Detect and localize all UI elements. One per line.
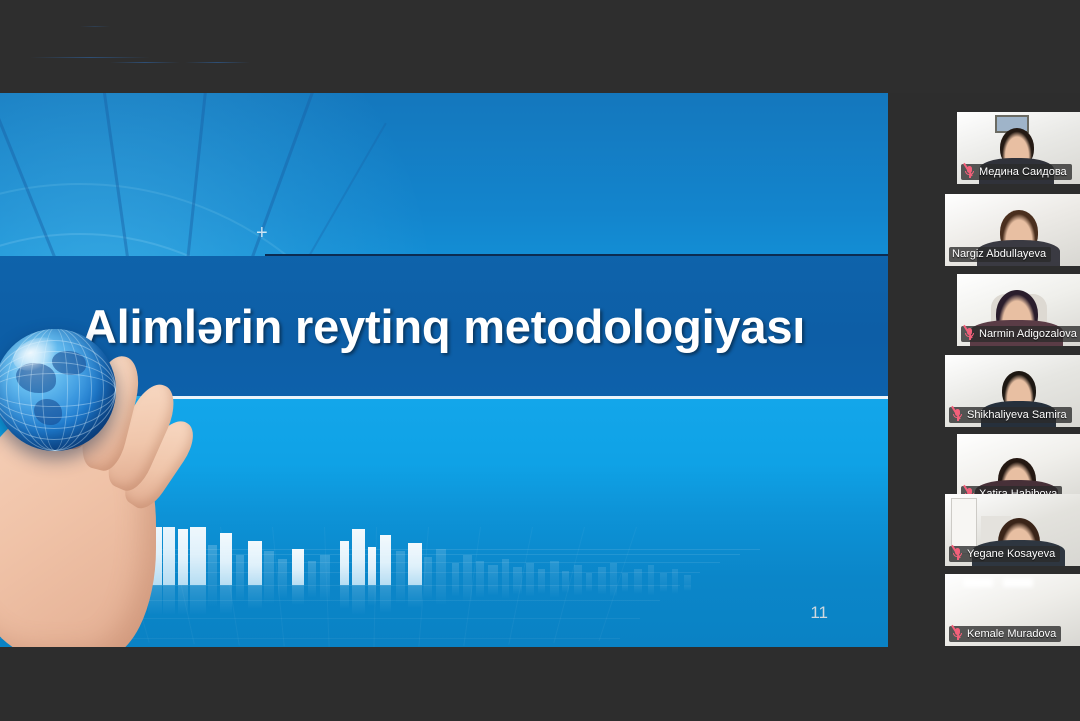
building-reflection xyxy=(634,585,642,594)
building-reflection xyxy=(598,585,606,595)
building-reflection xyxy=(264,585,274,604)
building-reflection xyxy=(526,585,534,597)
building-reflection xyxy=(610,585,617,597)
shared-slide[interactable]: ++++++ Alimlərin reytinq metodologiyası … xyxy=(0,93,888,647)
building xyxy=(320,555,330,585)
participant-tile[interactable]: Shikhaliyeva Samira xyxy=(945,355,1080,427)
building-reflection xyxy=(236,585,244,602)
top-dark-strip xyxy=(0,0,1080,93)
building-reflection xyxy=(308,585,316,598)
mic-muted-icon xyxy=(964,327,975,340)
building xyxy=(308,561,316,585)
building xyxy=(648,565,654,585)
building-reflection xyxy=(648,585,654,596)
ceiling-light xyxy=(1003,578,1033,587)
building xyxy=(684,575,691,585)
building xyxy=(340,541,349,585)
building xyxy=(236,555,244,585)
plus-marker: + xyxy=(256,223,268,243)
participant-name: Yegane Kosayeva xyxy=(967,548,1055,560)
artifact-line xyxy=(185,62,250,63)
globe-longitude xyxy=(42,329,68,451)
participant-nametag: Медина Саидова xyxy=(961,164,1072,180)
building-reflection xyxy=(672,585,678,594)
building-reflection xyxy=(278,585,287,599)
building-reflection xyxy=(476,585,484,598)
building xyxy=(574,565,582,585)
building xyxy=(396,551,405,585)
building-reflection xyxy=(452,585,459,597)
building xyxy=(550,561,559,585)
building-reflection xyxy=(220,585,232,614)
participant-tile[interactable]: Kemale Muradova xyxy=(945,574,1080,646)
artifact-line xyxy=(110,62,180,63)
building-reflection xyxy=(340,585,349,609)
participant-tile[interactable]: Yegane Kosayeva xyxy=(945,494,1080,566)
building-reflection xyxy=(352,585,365,615)
building-reflection xyxy=(574,585,582,596)
building xyxy=(248,541,262,585)
participant-name: Kemale Muradova xyxy=(967,628,1056,640)
mic-muted-icon xyxy=(952,627,963,640)
building xyxy=(598,567,606,585)
participant-name: Медина Саидова xyxy=(979,166,1067,178)
title-bottom-rule xyxy=(145,396,888,399)
participant-nametag: Shikhaliyeva Samira xyxy=(949,407,1072,423)
building-reflection xyxy=(684,585,691,591)
mic-muted-icon xyxy=(952,408,963,421)
building-reflection xyxy=(538,585,545,594)
hand-holding-globe-graphic xyxy=(0,329,194,647)
participant-strip[interactable]: Медина СаидоваNargiz AbdullayevaNarmin A… xyxy=(940,93,1080,673)
artifact-line xyxy=(30,57,150,58)
building xyxy=(586,573,592,585)
building-reflection xyxy=(368,585,376,606)
building xyxy=(436,549,446,585)
building-reflection xyxy=(208,585,217,607)
building xyxy=(368,547,376,585)
building-reflection xyxy=(622,585,628,592)
building xyxy=(264,551,274,585)
building-reflection xyxy=(513,585,522,595)
building xyxy=(352,529,365,585)
building-reflection xyxy=(463,585,472,602)
participant-nametag: Kemale Muradova xyxy=(949,626,1061,642)
building xyxy=(526,563,534,585)
participant-nametag: Narmin Adigozalova xyxy=(961,326,1080,342)
building-reflection xyxy=(396,585,405,604)
participant-name: Nargiz Abdullayeva xyxy=(952,248,1046,260)
building xyxy=(634,569,642,585)
building-reflection xyxy=(380,585,391,613)
building-reflection xyxy=(550,585,559,598)
mic-muted-icon xyxy=(964,165,975,178)
building xyxy=(208,545,217,585)
building xyxy=(562,571,569,585)
building xyxy=(502,559,509,585)
building xyxy=(476,561,484,585)
building-reflection xyxy=(408,585,422,608)
building-reflection xyxy=(586,585,592,592)
building xyxy=(380,535,391,585)
mic-muted-icon xyxy=(952,547,963,560)
artifact-line xyxy=(80,26,110,27)
building xyxy=(408,543,422,585)
building xyxy=(424,557,432,585)
ceiling-light xyxy=(963,578,993,587)
building xyxy=(452,563,459,585)
participant-nametag: Nargiz Abdullayeva xyxy=(949,247,1051,262)
building xyxy=(538,569,545,585)
participant-nametag: Yegane Kosayeva xyxy=(949,546,1060,562)
conference-window: ++++++ Alimlərin reytinq metodologiyası … xyxy=(0,0,1080,721)
building xyxy=(513,567,522,585)
building xyxy=(463,555,472,585)
building xyxy=(220,533,232,585)
building-reflection xyxy=(488,585,498,596)
building xyxy=(660,573,667,585)
building-reflection xyxy=(424,585,432,600)
building xyxy=(488,565,498,585)
building-reflection xyxy=(292,585,304,605)
building-reflection xyxy=(248,585,262,609)
building xyxy=(622,573,628,585)
participant-tile[interactable]: Медина Саидова xyxy=(957,112,1080,184)
participant-name: Shikhaliyeva Samira xyxy=(967,409,1067,421)
participant-name: Narmin Adigozalova xyxy=(979,328,1077,340)
slide-number: 11 xyxy=(810,603,828,623)
building-reflection xyxy=(562,585,569,593)
building xyxy=(292,549,304,585)
building-reflection xyxy=(320,585,330,602)
participant-tile[interactable]: Narmin Adigozalova xyxy=(957,274,1080,346)
building-reflection xyxy=(436,585,446,605)
building xyxy=(672,569,678,585)
building-reflection xyxy=(502,585,509,599)
building-reflection xyxy=(660,585,667,592)
participant-tile[interactable]: Nargiz Abdullayeva xyxy=(945,194,1080,266)
building xyxy=(610,563,617,585)
building xyxy=(278,559,287,585)
